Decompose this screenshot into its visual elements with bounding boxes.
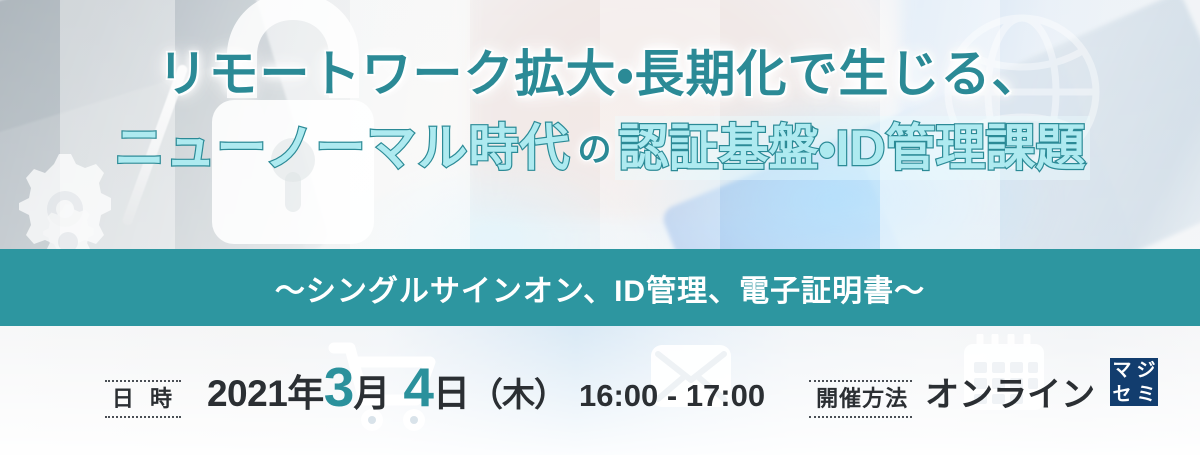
event-month: 3 [324,363,354,413]
event-day: 4 [403,363,433,413]
logo-char-2: ジ [1136,361,1155,380]
event-info-line: 日 時 2021年 3 月 4 日 （木） 16:00 - 17:00 開催方法… [105,363,1095,417]
majisemi-logo[interactable]: マ ジ セ ミ [1110,358,1158,406]
event-year: 2021年 [207,363,324,417]
event-month-unit: 月 [353,363,390,417]
format-label: 開催方法 [809,380,912,417]
event-day-of-week: （木） [470,368,566,416]
globe-icon [930,0,1115,185]
subtitle-text: 〜シングルサインオン、ID管理、電子証明書〜 [275,266,925,310]
seminar-banner: リモートワーク拡大・長期化で生じる、 ニューノーマル時代の認証基盤・ID管理課題… [0,0,1200,455]
event-time: 16:00 - 17:00 [579,378,765,414]
lock-icon [188,0,398,254]
format-value: オンライン [925,367,1095,416]
logo-char-4: ミ [1136,385,1155,404]
logo-char-1: マ [1112,361,1131,380]
logo-char-3: セ [1112,385,1131,404]
subtitle-band: 〜シングルサインオン、ID管理、電子証明書〜 [0,249,1200,326]
event-info-row: 日 時 2021年 3 月 4 日 （木） 16:00 - 17:00 開催方法… [0,326,1200,455]
event-day-unit: 日 [433,363,470,417]
datetime-label: 日 時 [105,380,181,417]
